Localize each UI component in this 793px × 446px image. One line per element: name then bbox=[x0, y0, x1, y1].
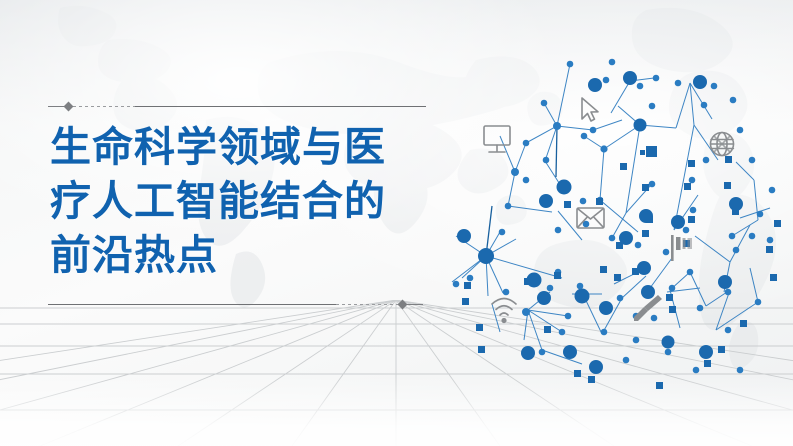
network-nodes-small bbox=[453, 59, 776, 374]
page-title: 生命科学领域与医 疗人工智能结合的 前沿热点 bbox=[50, 120, 450, 282]
title-line-1: 生命科学领域与医 bbox=[50, 120, 450, 174]
title-line-2: 疗人工智能结合的 bbox=[50, 174, 450, 228]
rule-diamond-marker bbox=[64, 102, 74, 112]
rule-diamond-marker bbox=[398, 300, 408, 310]
slide-canvas: 生命科学领域与医 疗人工智能结合的 前沿热点 bbox=[0, 0, 793, 446]
network-links bbox=[452, 64, 770, 364]
wifi-icon bbox=[492, 299, 516, 324]
monitor-icon bbox=[484, 126, 510, 152]
title-line-3: 前沿热点 bbox=[50, 228, 450, 282]
network-nodes-large bbox=[457, 71, 743, 374]
rule-solid-long bbox=[48, 304, 336, 305]
cursor-icon bbox=[582, 98, 598, 121]
globe-icon bbox=[711, 133, 734, 156]
global-network-graphic bbox=[440, 40, 793, 400]
rule-dashed-segment bbox=[73, 106, 135, 107]
rule-solid-short bbox=[48, 106, 64, 107]
rule-solid-short bbox=[407, 304, 423, 305]
envelope-icon bbox=[577, 208, 604, 228]
network-nodes-square bbox=[462, 146, 781, 389]
flag-bars-icon bbox=[671, 235, 692, 261]
decorative-rule-top bbox=[48, 102, 426, 111]
rule-dashed-segment bbox=[336, 304, 398, 305]
decorative-rule-bottom bbox=[48, 300, 423, 309]
rule-solid-long bbox=[135, 106, 426, 107]
